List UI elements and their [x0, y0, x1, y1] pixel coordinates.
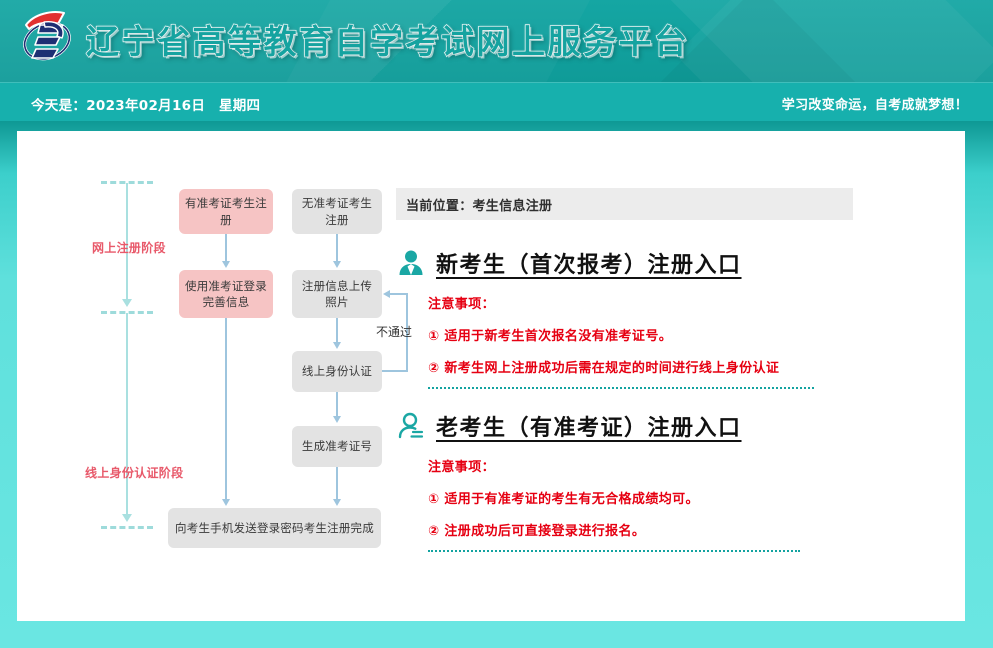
stage-label-identity-auth: 线上身份认证阶段 [85, 464, 183, 481]
note-item-2: ② 新考生网上注册成功后需在规定的时间进行线上身份认证 [428, 357, 871, 376]
note-heading: 注意事项： [428, 456, 871, 475]
flow-box-has-ticket-register: 有准考证考生注册 [179, 189, 273, 234]
flow-fail-arrowhead [383, 290, 390, 298]
site-slogan: 学习改变命运，自考成就梦想！ [782, 94, 968, 113]
note-item-1: ① 适用于有准考证的考生有无合格成绩均可。 [428, 488, 871, 507]
old-candidate-register-link[interactable]: 老考生（有准考证）注册入口 [436, 410, 742, 442]
entry-new-candidate: 新考生（首次报考）注册入口 注意事项： ① 适用于新考生首次报名没有准考证号。 … [396, 247, 871, 389]
flow-box-online-identity-auth: 线上身份认证 [292, 351, 382, 392]
note-item-2: ② 注册成功后可直接登录进行报名。 [428, 520, 871, 539]
flow-connector-b4 [336, 467, 338, 503]
breadcrumb: 当前位置：考生信息注册 [396, 188, 853, 220]
flow-box-send-password-done: 向考生手机发送登录密码考生注册完成 [168, 508, 381, 548]
section-divider-2 [428, 550, 800, 552]
flow-arrowhead-b4 [333, 499, 341, 506]
flow-arrowhead-b3 [333, 416, 341, 423]
flow-arrowhead-a1 [222, 261, 230, 268]
entry-new-candidate-notes: 注意事项： ① 适用于新考生首次报名没有准考证号。 ② 新考生网上注册成功后需在… [428, 293, 871, 389]
registration-flowchart: 网上注册阶段 线上身份认证阶段 有准考证考生注册 使用准考证登录完善信息 无准考… [95, 181, 395, 626]
flow-box-register-info-photo: 注册信息上传照片 [292, 270, 382, 318]
date-bar: 今天是：2023年02月16日 星期四 学习改变命运，自考成就梦想！ [0, 82, 993, 122]
site-logo-icon[interactable] [14, 8, 80, 70]
flow-box-no-ticket-register: 无准考证考生注册 [292, 189, 382, 234]
site-header: 辽宁省高等教育自学考试网上服务平台 [0, 0, 993, 82]
page-root: 辽宁省高等教育自学考试网上服务平台 今天是：2023年02月16日 星期四 学习… [0, 0, 993, 648]
note-heading: 注意事项： [428, 293, 871, 312]
main-panel: 网上注册阶段 线上身份认证阶段 有准考证考生注册 使用准考证登录完善信息 无准考… [17, 131, 965, 621]
stage-line-2 [126, 313, 128, 517]
flow-arrowhead-b2 [333, 342, 341, 349]
current-date-text: 今天是：2023年02月16日 星期四 [31, 94, 260, 114]
site-title: 辽宁省高等教育自学考试网上服务平台 [86, 15, 690, 63]
stage-label-online-registration: 网上注册阶段 [92, 239, 166, 256]
stage-divider-bottom [101, 526, 153, 529]
section-divider-1 [428, 387, 814, 389]
stage-arrow-2 [122, 514, 132, 522]
header-decor-polygon-1 [675, 0, 993, 82]
flow-arrowhead-a2 [222, 499, 230, 506]
entry-old-candidate-header: 老考生（有准考证）注册入口 [396, 410, 871, 442]
entry-old-candidate-notes: 注意事项： ① 适用于有准考证的考生有无合格成绩均可。 ② 注册成功后可直接登录… [428, 456, 871, 552]
new-candidate-register-link[interactable]: 新考生（首次报考）注册入口 [436, 247, 742, 279]
flow-box-login-complete-info: 使用准考证登录完善信息 [179, 270, 273, 318]
entry-old-candidate: 老考生（有准考证）注册入口 注意事项： ① 适用于有准考证的考生有无合格成绩均可… [396, 410, 871, 552]
user-outline-icon [396, 411, 426, 441]
flow-arrowhead-b1 [333, 261, 341, 268]
stage-arrow-1 [122, 299, 132, 307]
content-column: 当前位置：考生信息注册 新考生（首次报考）注册入口 [396, 188, 871, 552]
flow-box-generate-ticket-no: 生成准考证号 [292, 426, 382, 467]
note-item-1: ① 适用于新考生首次报名没有准考证号。 [428, 325, 871, 344]
flow-connector-a2 [225, 318, 227, 503]
page-frame: 网上注册阶段 线上身份认证阶段 有准考证考生注册 使用准考证登录完善信息 无准考… [0, 121, 993, 648]
user-tie-icon [396, 248, 426, 278]
entry-new-candidate-header: 新考生（首次报考）注册入口 [396, 247, 871, 279]
